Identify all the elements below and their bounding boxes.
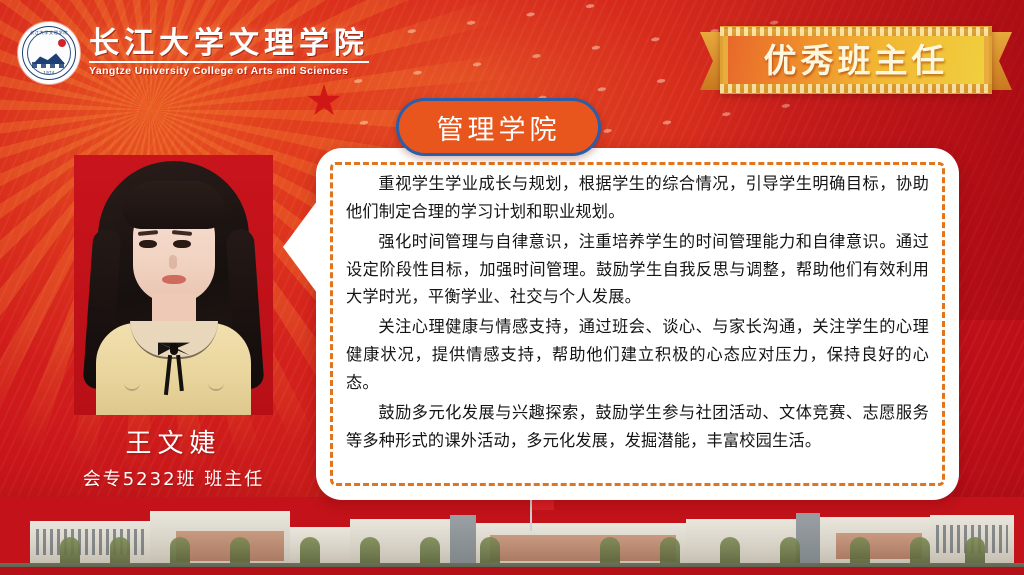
paragraph: 关注心理健康与情感支持，通过班会、谈心、与家长沟通，关注学生的心理健康状况，提供…: [346, 313, 929, 397]
seal-arc-text: 长江大学文理学院: [18, 30, 80, 36]
university-name-cn: 长江大学文理学院: [89, 28, 369, 60]
description-card: 重视学生学业成长与规划，根据学生的综合情况，引导学生明确目标，协助他们制定合理的…: [316, 148, 959, 500]
seal-year: 1974: [18, 70, 80, 75]
college-label: 管理学院: [437, 108, 561, 147]
teacher-name: 王文婕: [36, 428, 311, 461]
paragraph: 鼓励多元化发展与兴趣探索，鼓励学生参与社团活动、文体竞赛、志愿服务等多种形式的课…: [346, 399, 929, 455]
teacher-role: 会专5232班 班主任: [36, 465, 311, 491]
university-logo: 长江大学文理学院 1974 长江大学文理学院 Yangtze Universit…: [18, 22, 369, 84]
flag-icon: [530, 497, 532, 531]
teacher-name-block: 王文婕 会专5232班 班主任: [36, 428, 311, 491]
award-ribbon: 优秀班主任: [712, 26, 1000, 94]
ribbon-edge-bottom: [720, 84, 992, 93]
university-name-en: Yangtze University College of Arts and S…: [89, 61, 369, 78]
ribbon-edge-top: [720, 27, 992, 36]
university-name-block: 长江大学文理学院 Yangtze University College of A…: [89, 28, 369, 79]
poster-canvas: 长江大学文理学院 1974 长江大学文理学院 Yangtze Universit…: [0, 0, 1024, 575]
paragraph: 重视学生学业成长与规划，根据学生的综合情况，引导学生明确目标，协助他们制定合理的…: [346, 170, 929, 226]
university-seal-icon: 长江大学文理学院 1974: [18, 22, 80, 84]
ribbon-inner-panel: 优秀班主任: [728, 36, 984, 84]
paragraph: 强化时间管理与自律意识，注重培养学生的时间管理能力和自律意识。通过设定阶段性目标…: [346, 228, 929, 312]
description-text: 重视学生学业成长与规划，根据学生的综合情况，引导学生明确目标，协助他们制定合理的…: [346, 170, 929, 480]
campus-photo-strip: [0, 497, 1024, 575]
college-badge: 管理学院: [396, 98, 601, 156]
award-title: 优秀班主任: [764, 44, 949, 77]
teacher-portrait: [74, 155, 273, 415]
